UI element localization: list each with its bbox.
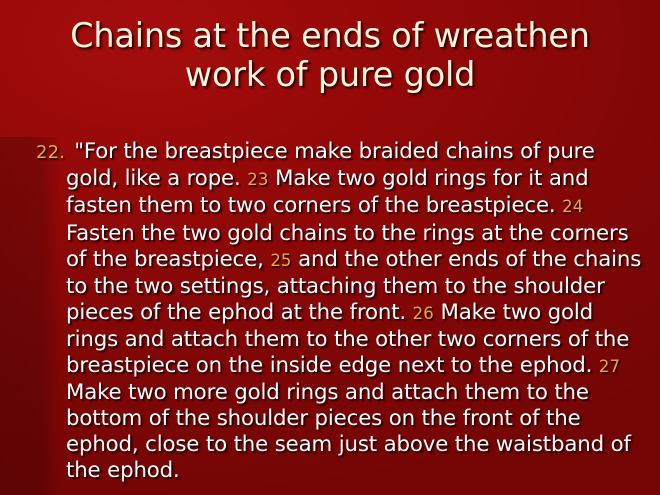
- slide-body: 22."For the breastpiece make braided cha…: [36, 118, 644, 495]
- list-number: 22.: [36, 142, 65, 163]
- presentation-slide: Chains at the ends of wreathen work of p…: [0, 0, 660, 495]
- verse-number: 25: [270, 251, 291, 270]
- slide-title-line-1: Chains at the ends of wreathen: [14, 16, 646, 55]
- slide-title: Chains at the ends of wreathen work of p…: [0, 16, 660, 94]
- verse-number: 23: [247, 170, 268, 189]
- slide-title-line-2: work of pure gold: [14, 55, 646, 94]
- verse-number: 27: [599, 357, 620, 376]
- scripture-run: Make two more gold rings and attach them…: [66, 380, 631, 483]
- verse-number: 24: [562, 197, 583, 216]
- scripture-paragraph: 22."For the breastpiece make braided cha…: [36, 139, 644, 484]
- verse-number: 26: [413, 304, 434, 323]
- scripture-text: "For the breastpiece make braided chains…: [66, 139, 641, 483]
